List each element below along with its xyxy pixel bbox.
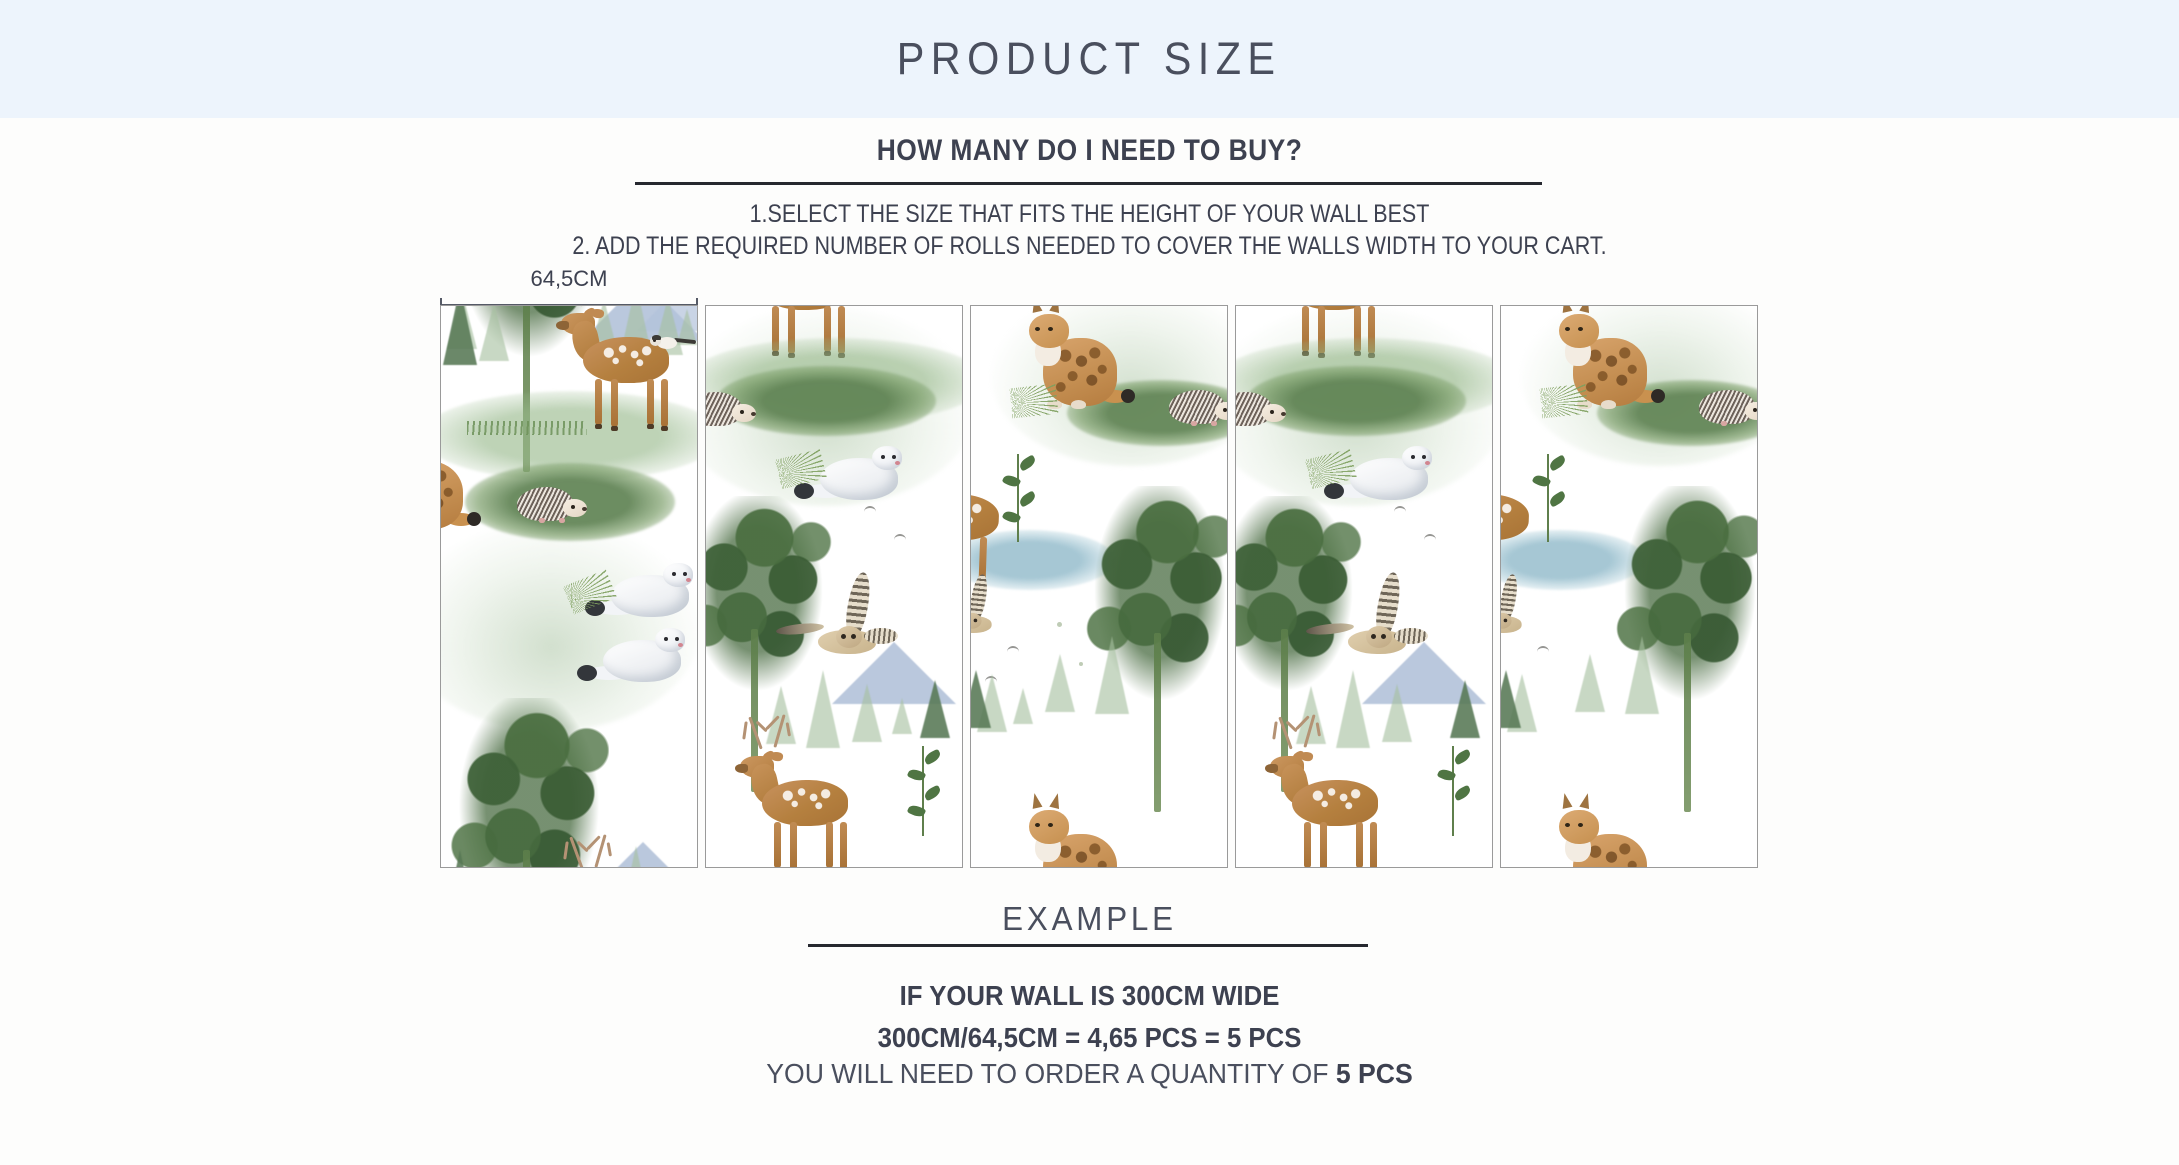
- hedgehog-eye: [571, 505, 575, 509]
- lynx-paw: [1601, 400, 1616, 409]
- page-header-band: PRODUCT SIZE: [0, 0, 2179, 118]
- conifer-motif: [443, 305, 477, 365]
- ermine-eye: [1411, 455, 1415, 459]
- ermine-eye: [664, 637, 668, 641]
- ermine-eye: [675, 637, 679, 641]
- lynx-eye: [1035, 327, 1040, 331]
- roll-width-label: 64,5CM: [440, 266, 698, 292]
- hedgehog-foot: [539, 518, 545, 523]
- owl-head: [1366, 626, 1392, 648]
- ermine-head: [655, 628, 685, 652]
- leaf-sprig: [1442, 746, 1482, 836]
- deer-body: [762, 780, 848, 826]
- conifer-motif: [479, 866, 509, 868]
- paint-speck: [1057, 622, 1062, 627]
- ermine-head: [1402, 446, 1432, 470]
- ermine-nose: [678, 643, 683, 647]
- conifer-motif: [766, 686, 796, 744]
- example-heading: EXAMPLE: [54, 900, 2124, 938]
- hedgehog-nose: [582, 507, 587, 511]
- lynx-eye: [1048, 327, 1053, 331]
- ermine-eye: [672, 572, 676, 576]
- flying-bird-mark: [1394, 506, 1406, 512]
- sprig-leaf: [923, 749, 943, 766]
- grass-tuft: [467, 421, 587, 435]
- wallpaper-panel-strip: [440, 305, 1740, 870]
- deer-leg: [1356, 822, 1363, 868]
- deer-leg: [595, 379, 602, 425]
- tree-trunk: [1154, 633, 1161, 812]
- example-divider: [808, 944, 1368, 947]
- owl-eye: [851, 634, 856, 639]
- deer-muzzle: [556, 321, 569, 330]
- lynx-eye: [1035, 823, 1040, 827]
- leaf-sprig: [912, 746, 952, 836]
- flying-bird-mark: [1537, 646, 1549, 652]
- ermine-nose: [1425, 461, 1430, 465]
- lynx-head: [1029, 810, 1069, 844]
- sprig-stem: [1017, 454, 1019, 542]
- hedgehog-face: [563, 499, 587, 517]
- owl-eye: [841, 634, 846, 639]
- wallpaper-artwork: [1501, 305, 1757, 868]
- wallpaper-panel[interactable]: [440, 305, 698, 868]
- lynx-eye: [1578, 327, 1583, 331]
- conifer-motif: [1045, 654, 1075, 712]
- ermine-head: [872, 446, 902, 470]
- wallpaper-panel[interactable]: [705, 305, 963, 868]
- deer-leg: [647, 379, 654, 425]
- hedgehog-eye: [1270, 410, 1274, 414]
- sprig-stem: [1547, 454, 1549, 542]
- hedgehog-foot: [1211, 421, 1217, 426]
- lynx-head: [1559, 810, 1599, 844]
- tree-trunk: [1684, 633, 1691, 812]
- owl-eye: [1371, 634, 1376, 639]
- flying-bird-mark: [1424, 534, 1436, 540]
- conifer-motif: [892, 698, 912, 734]
- tree-trunk: [523, 850, 530, 868]
- hedgehog-foot: [559, 518, 565, 523]
- pine-sprig: [1010, 384, 1059, 419]
- lynx-eye: [1565, 327, 1570, 331]
- order-quantity-statement: YOU WILL NEED TO ORDER A QUANTITY OF 5 P…: [54, 1058, 2124, 1090]
- conifer-motif: [920, 680, 950, 738]
- conifer-motif: [1625, 636, 1659, 714]
- deer-muzzle: [735, 764, 748, 773]
- order-quantity-value: 5 PCS: [1336, 1058, 1413, 1089]
- flying-bird-mark: [1007, 646, 1019, 652]
- meadow-patch: [1246, 366, 1466, 436]
- hedgehog-eye: [740, 410, 744, 414]
- example-formula: 300CM/64,5CM = 4,65 PCS = 5 PCS: [87, 1017, 2092, 1059]
- pine-sprig: [1540, 384, 1589, 419]
- ermine-head: [663, 563, 693, 587]
- sprig-leaf: [1018, 454, 1038, 471]
- owl-wing: [1394, 628, 1428, 644]
- conifer-motif: [1382, 684, 1412, 742]
- example-calculation: IF YOUR WALL IS 300CM WIDE 300CM/64,5CM …: [0, 975, 2179, 1059]
- lynx-head: [1029, 314, 1069, 348]
- instructions-list: 1.SELECT THE SIZE THAT FITS THE HEIGHT O…: [0, 198, 2179, 262]
- owl-eye: [974, 619, 978, 623]
- wallpaper-artwork: [441, 305, 697, 868]
- flying-bird-mark: [864, 506, 876, 512]
- owl-eye: [1504, 619, 1508, 623]
- deer-leg: [774, 822, 781, 868]
- ermine-eye: [683, 572, 687, 576]
- example-wall-width: IF YOUR WALL IS 300CM WIDE: [87, 975, 2092, 1017]
- sprig-leaf: [1548, 454, 1568, 471]
- wallpaper-panel[interactable]: [970, 305, 1228, 868]
- owl-wing: [864, 628, 898, 644]
- instruction-item-2: 2. ADD THE REQUIRED NUMBER OF ROLLS NEED…: [153, 230, 2027, 262]
- ermine-nose: [895, 461, 900, 465]
- sprig-leaf: [1018, 490, 1038, 507]
- deer-leg: [790, 822, 797, 868]
- deer-leg: [840, 822, 847, 868]
- conifer-motif: [1296, 686, 1326, 744]
- sprig-leaf: [1453, 749, 1473, 766]
- instruction-item-1: 1.SELECT THE SIZE THAT FITS THE HEIGHT O…: [153, 198, 2027, 230]
- lynx-eye: [1565, 823, 1570, 827]
- hedgehog-foot: [1721, 421, 1727, 426]
- meadow-patch: [716, 366, 936, 436]
- hedgehog-face: [1262, 404, 1286, 422]
- wallpaper-artwork: [1236, 305, 1492, 868]
- conifer-motif: [1500, 670, 1521, 728]
- deer-leg: [1304, 822, 1311, 868]
- page-title: PRODUCT SIZE: [897, 33, 1282, 85]
- sprig-leaf: [1548, 490, 1568, 507]
- hedgehog-nose: [751, 412, 756, 416]
- deer-leg: [1370, 822, 1377, 868]
- lynx-paw: [1071, 400, 1086, 409]
- lynx-eye: [1048, 823, 1053, 827]
- hedgehog-foot: [1191, 421, 1197, 426]
- flying-bird-mark: [894, 534, 906, 540]
- ermine-eye: [892, 455, 896, 459]
- wallpaper-panel[interactable]: [1235, 305, 1493, 868]
- leaf-sprig: [1007, 454, 1047, 542]
- wallpaper-artwork: [971, 305, 1227, 868]
- order-quantity-prefix: YOU WILL NEED TO ORDER A QUANTITY OF: [766, 1058, 1336, 1089]
- conifer-motif: [806, 670, 840, 748]
- bird-cap: [652, 335, 661, 340]
- lynx-head: [1559, 314, 1599, 348]
- conifer-motif: [970, 670, 991, 728]
- sprig-leaf: [1453, 785, 1473, 802]
- conifer-motif: [443, 850, 477, 868]
- leaf-sprig: [1537, 454, 1577, 542]
- hedgehog-nose: [1281, 412, 1286, 416]
- conifer-motif: [1013, 688, 1033, 724]
- hedgehog-face: [732, 404, 756, 422]
- section-subtitle: HOW MANY DO I NEED TO BUY?: [131, 134, 2049, 168]
- conifer-motif: [479, 305, 509, 361]
- subtitle-divider: [635, 182, 1542, 185]
- conifer-motif: [852, 684, 882, 742]
- deer-leg: [611, 379, 618, 427]
- conifer-motif: [619, 846, 653, 868]
- ermine-eye: [1422, 455, 1426, 459]
- paint-speck: [1079, 662, 1083, 666]
- wallpaper-panel[interactable]: [1500, 305, 1758, 868]
- hedgehog-eye: [1753, 408, 1757, 412]
- conifer-motif: [1336, 670, 1370, 748]
- conifer-motif: [1575, 654, 1605, 712]
- sprig-leaf: [923, 785, 943, 802]
- deer-leg: [826, 822, 833, 868]
- owl-head: [836, 626, 862, 648]
- owl-eye: [1381, 634, 1386, 639]
- lynx-eye: [1578, 823, 1583, 827]
- conifer-motif: [1095, 636, 1129, 714]
- hedgehog-eye: [1223, 408, 1227, 412]
- conifer-motif: [1450, 680, 1480, 738]
- wallpaper-artwork: [706, 305, 962, 868]
- ermine-eye: [881, 455, 885, 459]
- ermine-nose: [686, 578, 691, 582]
- deer-leg: [661, 379, 668, 427]
- deer-body: [1292, 780, 1378, 826]
- deer-muzzle: [1265, 764, 1278, 773]
- deer-leg: [1320, 822, 1327, 868]
